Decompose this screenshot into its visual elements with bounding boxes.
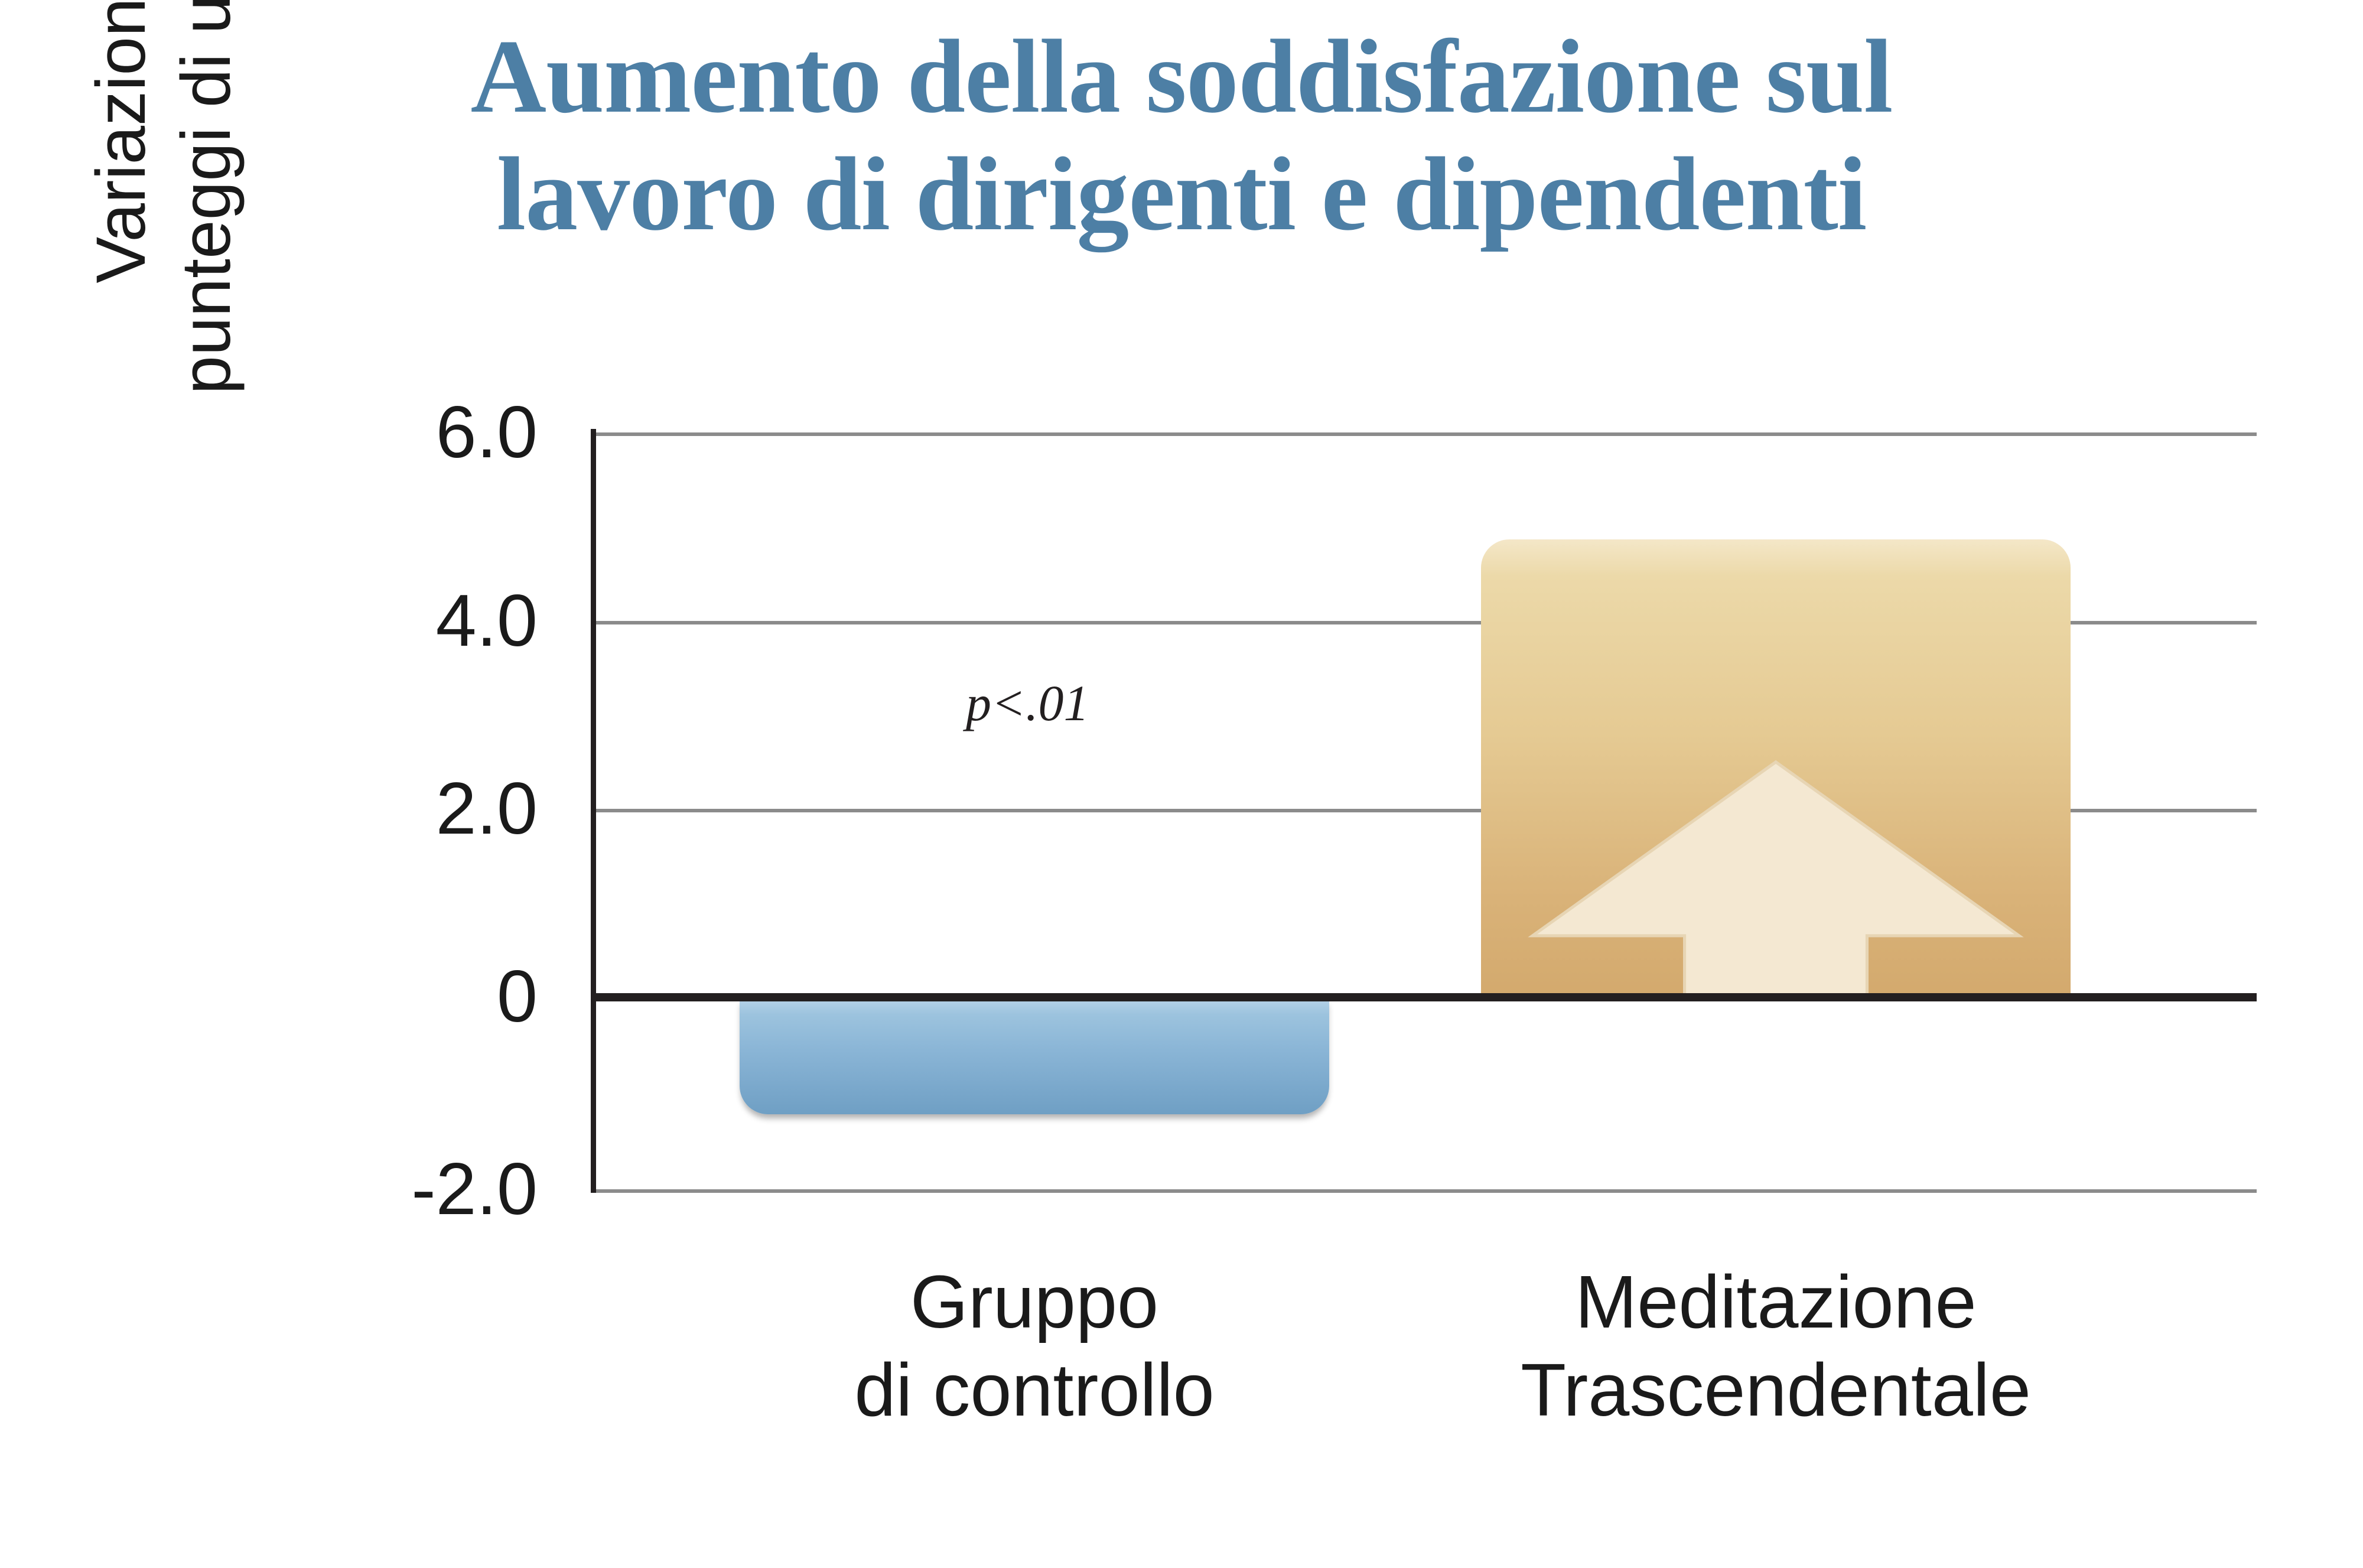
x-label-control-group-line-1: Gruppo xyxy=(739,1258,1330,1346)
bar-control-group[interactable] xyxy=(740,998,1329,1114)
y-tick-label-0: 0 xyxy=(289,955,538,1039)
p-value-annotation: p<.01 xyxy=(966,674,1089,733)
up-arrow-icon xyxy=(1522,752,2029,1000)
x-label-control-group: Gruppo di controllo xyxy=(739,1258,1330,1434)
chart-page: Aumento della soddisfazione sul lavoro d… xyxy=(0,0,2363,1568)
x-label-control-group-line-2: di controllo xyxy=(739,1346,1330,1434)
y-tick-label-2: 2.0 xyxy=(289,767,538,851)
y-tick-label-neg2: -2.0 xyxy=(289,1147,538,1231)
gridline-6 xyxy=(591,432,2257,436)
bar-chart: Variazione dei punteggi di una scala 6.0… xyxy=(0,0,2363,1568)
y-tick-label-6: 6.0 xyxy=(289,391,538,474)
gridline-neg2 xyxy=(591,1189,2257,1193)
y-axis-line xyxy=(591,429,596,1193)
y-axis-title-line-1: Variazione dei xyxy=(79,0,164,284)
zero-axis-line xyxy=(591,993,2257,1001)
x-label-tm-line-2: Trascendentale xyxy=(1480,1346,2071,1434)
y-axis-title: Variazione dei punteggi di una scala xyxy=(76,0,253,508)
y-tick-label-4: 4.0 xyxy=(289,579,538,663)
x-label-tm-line-1: Meditazione xyxy=(1480,1258,2071,1346)
bar-transcendental-meditation[interactable] xyxy=(1481,539,2071,1000)
y-axis-title-line-2: punteggi di una scala xyxy=(164,0,249,395)
x-label-transcendental-meditation: Meditazione Trascendentale xyxy=(1480,1258,2071,1434)
